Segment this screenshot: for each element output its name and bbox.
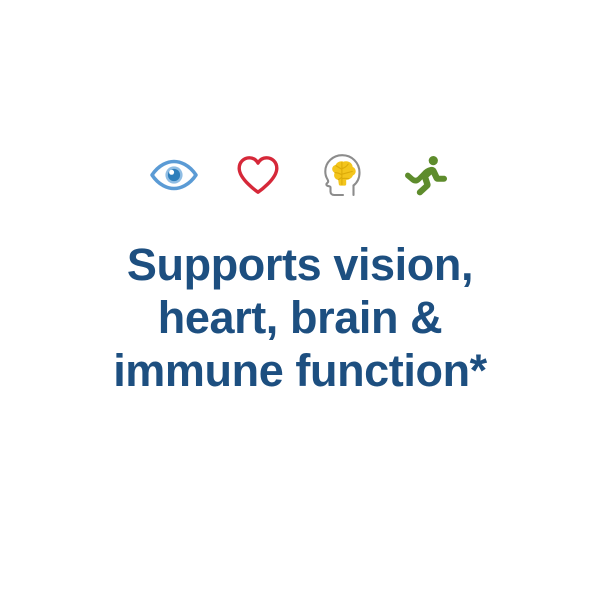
headline-line-1: Supports vision,: [0, 238, 600, 291]
benefit-callout-card: Supports vision, heart, brain & immune f…: [0, 0, 600, 600]
headline-line-2: heart, brain &: [0, 291, 600, 344]
headline-line-3: immune function*: [0, 344, 600, 397]
heart-icon: [232, 150, 284, 200]
page-title: Supports vision, heart, brain & immune f…: [0, 238, 600, 397]
running-person-icon: [400, 150, 452, 200]
eye-icon: [148, 150, 200, 200]
brain-head-icon: [316, 150, 368, 200]
benefit-icon-row: [0, 150, 600, 200]
